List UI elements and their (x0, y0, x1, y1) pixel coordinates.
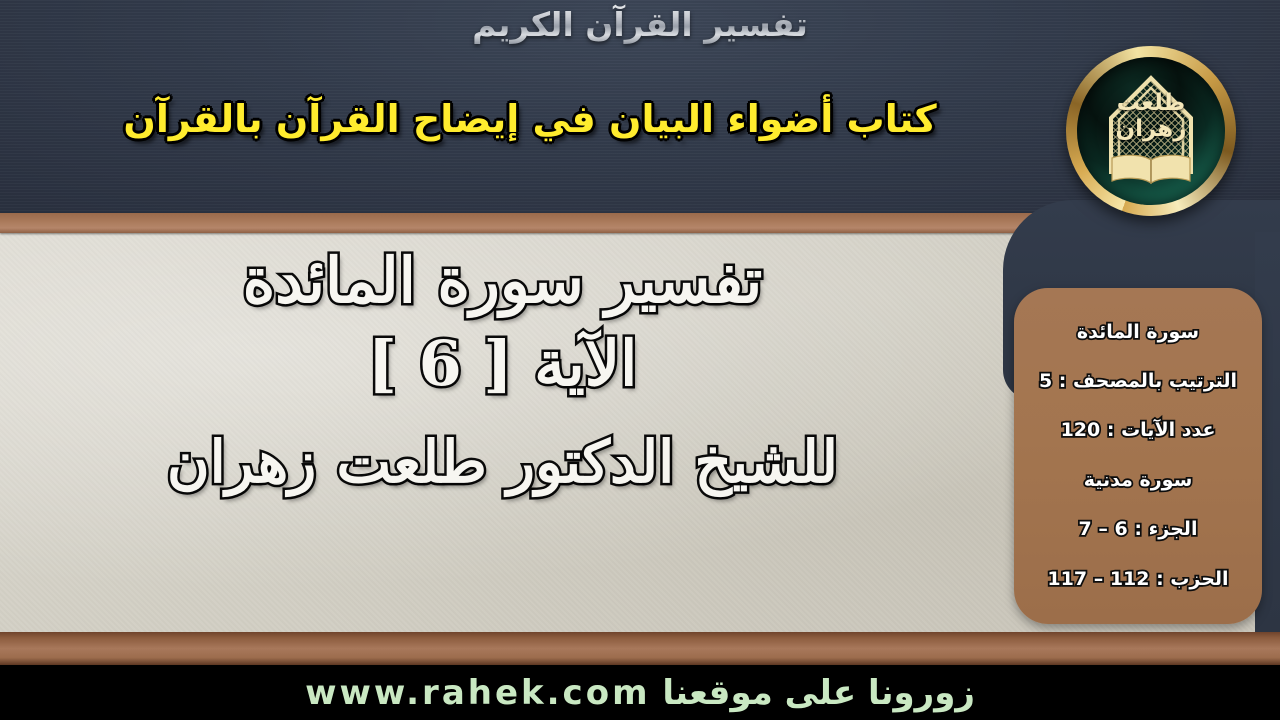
author-name: للشيخ الدكتور طلعت زهران (167, 428, 838, 496)
surah-title: تفسير سورة المائدة (243, 244, 763, 317)
slide-canvas: تفسير القرآن الكريم كتاب أضواء البيان في… (0, 0, 1280, 720)
channel-logo[interactable]: طلعت زهران (1066, 46, 1236, 216)
footer-banner: زورونا على موقعنا www.rahek.com (0, 665, 1280, 720)
book-title: كتاب أضواء البيان في إيضاح القرآن بالقرآ… (20, 96, 1040, 144)
footer-visit-label: زورونا على موقعنا (662, 673, 975, 713)
logo-text-line-1: طلعت (1096, 91, 1206, 117)
logo-disc: طلعت زهران (1077, 57, 1225, 205)
logo-text-line-2: زهران (1096, 117, 1206, 143)
info-row-surah-name: سورة المائدة (1018, 322, 1258, 344)
page-title: تفسير القرآن الكريم (0, 4, 1280, 45)
info-row-juz: الجزء : 6 – 7 (1018, 519, 1258, 541)
logo-text: طلعت زهران (1096, 91, 1206, 143)
info-row-hizb: الحزب : 112 – 117 (1018, 569, 1258, 591)
main-title-block: تفسير سورة المائدة الآية [ 6 ] للشيخ الد… (30, 236, 975, 636)
open-book-icon (1109, 153, 1193, 187)
info-row-mushaf-order: الترتيب بالمصحف : 5 (1018, 371, 1258, 393)
footer-visit-text: زورونا على موقعنا www.rahek.com (305, 673, 975, 713)
footer-divider (0, 632, 1280, 665)
website-url[interactable]: www.rahek.com (305, 673, 650, 713)
ayah-number: الآية [ 6 ] (368, 327, 638, 400)
info-row-revelation-type: سورة مدنية (1018, 470, 1258, 492)
info-row-ayah-count: عدد الآيات : 120 (1018, 420, 1258, 442)
surah-info-panel: سورة المائدة الترتيب بالمصحف : 5 عدد الآ… (1014, 288, 1262, 624)
